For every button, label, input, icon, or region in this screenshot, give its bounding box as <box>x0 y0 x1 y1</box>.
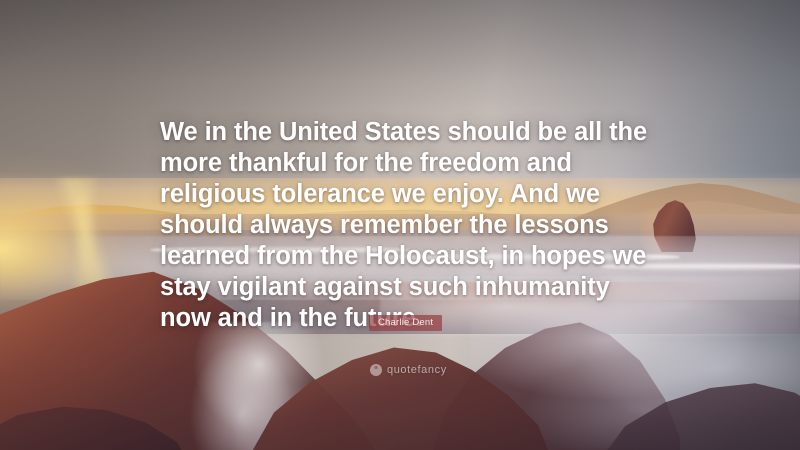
quote-text: We in the United States should be all th… <box>160 117 650 334</box>
quote-content: We in the United States should be all th… <box>0 0 800 450</box>
author-attribution-badge: Charlie Dent <box>369 315 442 331</box>
quote-mark-icon: “ <box>370 364 382 376</box>
quotefancy-watermark: “ quotefancy <box>370 364 447 376</box>
quote-wallpaper: We in the United States should be all th… <box>0 0 800 450</box>
watermark-brand-label: quotefancy <box>387 364 447 376</box>
